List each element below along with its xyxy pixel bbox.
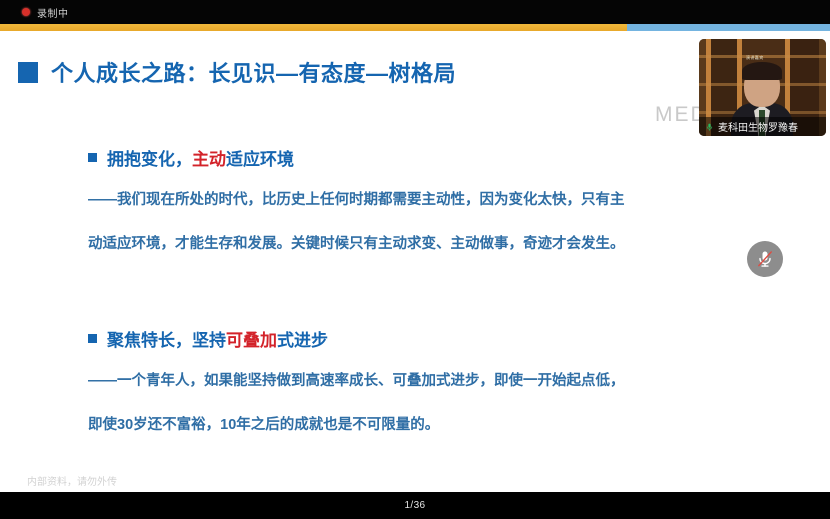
microphone-icon [705,121,714,133]
bullet-body-1: ——我们现在所处的时代，比历史上任何时期都需要主动性，因为变化太快，只有主 动适… [88,178,625,266]
page-title: 个人成长之路：长见识—有态度—树格局 [51,56,456,88]
video-overlay-text: 演讲嘉宾 [746,55,764,61]
bullet-body-2-line-2: 即使30岁还不富裕，10年之后的成就也是不可限量的。 [88,403,625,447]
presentation-progress-bar[interactable] [0,24,830,31]
bullet-1-prefix: 拥抱变化， [107,150,192,169]
avatar-hair [742,62,782,80]
bullet-body-2-line-1: ——一个青年人，如果能坚持做到高速率成长、可叠加式进步，即使一开始起点低， [88,359,625,403]
meeting-screen-share-window: 录制中 MED 个人成长之路：长见识—有态度—树格局 拥抱变化，主动适应环境 —… [0,0,830,519]
bullet-body-2: ——一个青年人，如果能坚持做到高速率成长、可叠加式进步，即使一开始起点低， 即使… [88,359,625,447]
title-square-icon [18,62,38,83]
slide-footer-note: 内部资料，请勿外传 [27,473,117,488]
participant-video-tile[interactable]: 演讲嘉宾 麦科田生物罗豫春 [699,39,826,136]
bullet-2-prefix: 聚焦特长，坚持 [107,331,226,350]
bullet-body-1-line-1: ——我们现在所处的时代，比历史上任何时期都需要主动性，因为变化太快，只有主 [88,178,625,222]
bullet-1-highlight: 主动 [192,150,226,169]
microphone-muted-button[interactable] [747,241,783,277]
bullet-heading-2-text: 聚焦特长，坚持可叠加式进步 [107,326,328,351]
recording-bar: 录制中 [0,0,830,24]
bullet-square-icon [88,334,97,343]
bullet-heading-1: 拥抱变化，主动适应环境 [88,145,294,170]
bullet-square-icon [88,153,97,162]
bullet-heading-1-text: 拥抱变化，主动适应环境 [107,145,294,170]
participant-name-bar: 麦科田生物罗豫春 [699,117,826,136]
bullet-body-1-line-2: 动适应环境，才能生存和发展。关键时候只有主动求变、主动做事，奇迹才会发生。 [88,222,625,266]
bullet-heading-2: 聚焦特长，坚持可叠加式进步 [88,326,328,351]
page-indicator: 1/36 [404,500,425,511]
record-dot-icon [22,8,30,16]
bullet-2-suffix: 式进步 [277,331,328,350]
microphone-muted-icon [755,249,775,269]
bullet-1-suffix: 适应环境 [226,150,294,169]
participant-name-label: 麦科田生物罗豫春 [718,119,798,134]
recording-status-label: 录制中 [37,5,69,20]
page-indicator-bar: 1/36 [0,492,830,519]
bullet-2-highlight: 可叠加 [226,331,277,350]
slide-title-row: 个人成长之路：长见识—有态度—树格局 [18,56,456,88]
progress-fill [0,24,627,31]
